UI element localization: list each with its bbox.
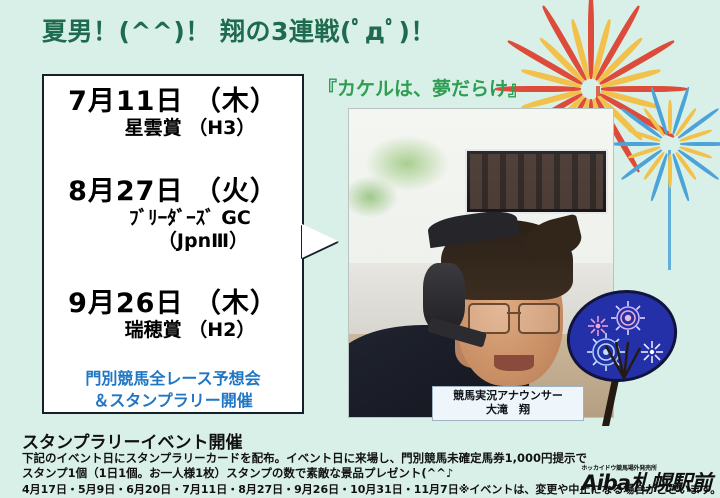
logo-wordmark: Aiba札幌駅前 <box>581 473 712 494</box>
event-item: 9月26日 （木） 瑞穂賞 （H2） <box>44 288 302 342</box>
event-race: 瑞穂賞 （H2） <box>44 319 302 342</box>
promo-line-1: 門別競馬全レース予想会 <box>44 368 302 390</box>
bottom-info-band: スタンプラリーイベント開催 下記のイベント日にスタンプラリーカードを配布。イベン… <box>0 426 720 498</box>
stamp-rally-detail-1: 下記のイベント日にスタンプラリーカードを配布。イベント日に来場し、門別競馬未確定… <box>22 450 587 466</box>
event-race: 星雲賞 （H3） <box>44 117 302 140</box>
uchiwa-fan <box>566 290 678 386</box>
photo-caption-name: 大滝 翔 <box>433 403 583 417</box>
event-item: 7月11日 （木） 星雲賞 （H3） <box>44 86 302 140</box>
event-race-grade: （JpnⅢ） <box>44 230 302 253</box>
speech-bubble-tail <box>302 224 338 258</box>
firework-burst-blue <box>612 86 720 202</box>
event-item: 8月27日 （火） ﾌﾞﾘｰﾀﾞｰｽﾞ GC （JpnⅢ） <box>44 176 302 253</box>
event-date: 9月26日 （木） <box>44 288 302 319</box>
monitor-in-photo <box>465 149 608 214</box>
aiba-logo: ホッカイドウ競馬場外発売所 Aiba札幌駅前 <box>581 463 712 494</box>
event-race: ﾌﾞﾘｰﾀﾞｰｽﾞ GC <box>44 207 302 230</box>
stamp-rally-detail-2: スタンプ1個（1日1個。お一人様1枚）スタンプの数で素敵な景品プレゼント(^^♪ <box>22 465 453 481</box>
poster-canvas: 夏男！(^^)！ 翔の3連戦(ﾟдﾟ)！ 『カケルは、夢だらけ』 競馬 <box>0 0 720 498</box>
logo-latin: Aiba <box>581 471 630 495</box>
firework-trail-blue <box>668 150 671 270</box>
photo-caption-role: 競馬実況アナウンサー <box>433 389 583 403</box>
tagline: 『カケルは、夢だらけ』 <box>318 74 527 101</box>
schedule-speech-bubble: 7月11日 （木） 星雲賞 （H3） 8月27日 （火） ﾌﾞﾘｰﾀﾞｰｽﾞ G… <box>42 74 304 414</box>
logo-name: 札幌駅前 <box>630 471 712 495</box>
page-title: 夏男！(^^)！ 翔の3連戦(ﾟдﾟ)！ <box>42 12 436 48</box>
event-date: 7月11日 （木） <box>44 86 302 117</box>
bubble-promo-text: 門別競馬全レース予想会 ＆スタンプラリー開催 <box>44 368 302 411</box>
promo-line-2: ＆スタンプラリー開催 <box>44 390 302 412</box>
photo-caption: 競馬実況アナウンサー 大滝 翔 <box>432 386 584 421</box>
event-date: 8月27日 （火） <box>44 176 302 207</box>
